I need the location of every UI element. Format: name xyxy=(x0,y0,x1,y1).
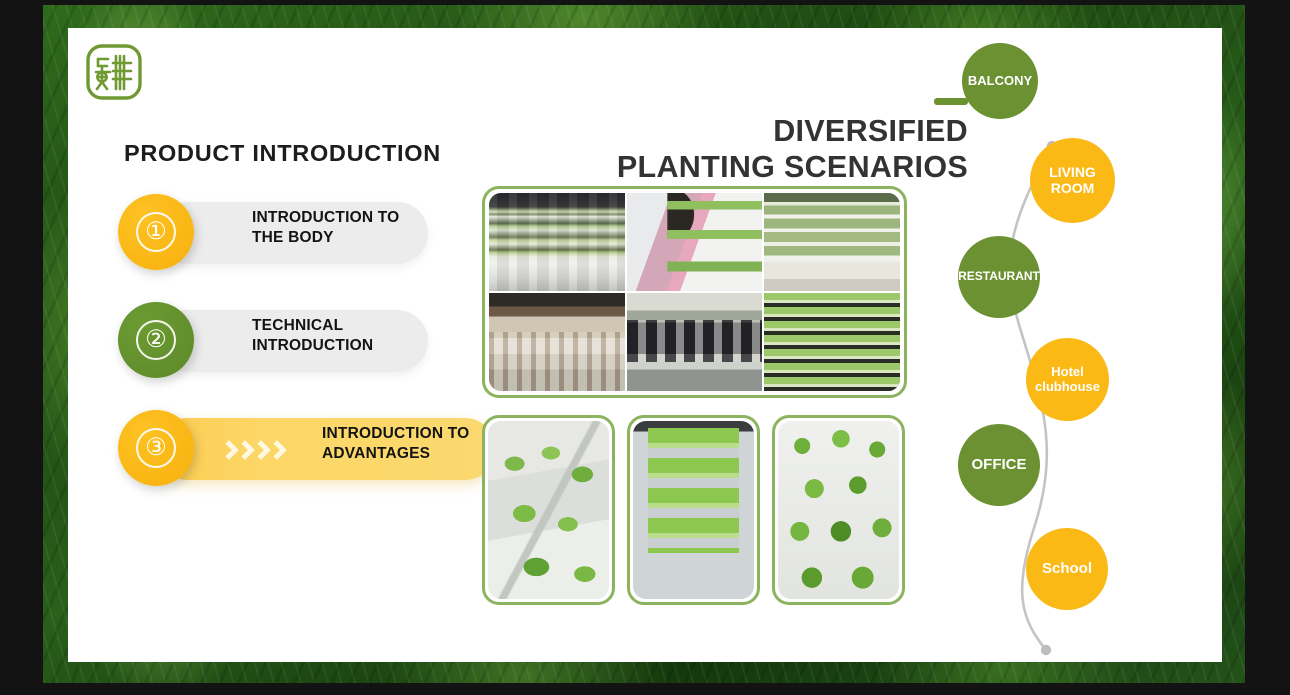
bottom-photo-row xyxy=(482,415,905,605)
collage-photo-indoor-grow-racks-dark-room xyxy=(489,193,625,291)
scenario-bubble-hotel-clubhouse[interactable]: Hotel clubhouse xyxy=(1026,338,1109,421)
scenario-bubble-living-room[interactable]: LIVING ROOM xyxy=(1030,138,1115,223)
scenario-bubble-school[interactable]: School xyxy=(1026,528,1108,610)
page-title: PRODUCT INTRODUCTION xyxy=(124,140,441,167)
scenario-label-hotel-clubhouse: Hotel clubhouse xyxy=(1026,365,1109,394)
collage-photo-restaurant-dining-hall xyxy=(489,293,625,391)
photo-collage[interactable] xyxy=(482,186,907,398)
main-heading-line-2: PLANTING SCENARIOS xyxy=(617,150,968,186)
scenario-label-living-room: LIVING ROOM xyxy=(1030,165,1115,196)
step-number-1: ① xyxy=(136,212,176,252)
step-label-2: TECHNICAL INTRODUCTION xyxy=(252,316,432,357)
photo-card-lettuce-heads-in-pots[interactable] xyxy=(772,415,905,605)
step-label-3: INTRODUCTION TO ADVANTAGES xyxy=(322,424,522,465)
step-label-1: INTRODUCTION TO THE BODY xyxy=(252,208,432,249)
scenario-bubble-office[interactable]: OFFICE xyxy=(958,424,1040,506)
main-heading-line-1: DIVERSIFIED xyxy=(617,114,968,150)
step-badge-2: ② xyxy=(118,302,194,378)
step-badge-3: ③ xyxy=(118,410,194,486)
scenario-bubble-restaurant[interactable]: RESTAURANT xyxy=(958,236,1040,318)
slide-card: PRODUCT INTRODUCTION ① INTRODUCTION TO T… xyxy=(68,28,1222,662)
step-number-2: ② xyxy=(136,320,176,360)
step-item-1[interactable]: ① INTRODUCTION TO THE BODY xyxy=(118,194,518,302)
main-heading: DIVERSIFIED PLANTING SCENARIOS xyxy=(617,114,968,186)
step-item-2[interactable]: ② TECHNICAL INTRODUCTION xyxy=(118,302,518,410)
step-number-3: ③ xyxy=(136,428,176,468)
brand-logo-icon xyxy=(86,44,142,100)
chevron-right-icons xyxy=(220,440,282,462)
accent-dash xyxy=(934,98,968,105)
photo-card-multi-tier-hydroponic-tower[interactable] xyxy=(627,415,760,605)
step-item-3[interactable]: ③ INTRODUCTION TO ADVANTAGES xyxy=(118,410,518,518)
scenario-bubble-balcony[interactable]: BALCONY xyxy=(962,43,1038,119)
collage-photo-grow-racks-warm-lighting xyxy=(764,193,900,291)
photo-multi-tier-hydroponic-tower xyxy=(633,421,754,599)
chevron-right-icon xyxy=(236,440,250,462)
collage-photo-classroom-workshop-students xyxy=(627,293,763,391)
collage-photo-girl-tending-vertical-garden xyxy=(627,193,763,291)
step-badge-1: ① xyxy=(118,194,194,270)
steps-list: ① INTRODUCTION TO THE BODY ② TECHNICAL I… xyxy=(118,194,518,518)
photo-lettuce-heads-in-pots xyxy=(778,421,899,599)
connector-endpoint-dot-bottom xyxy=(1041,645,1051,655)
photo-collage-grid xyxy=(489,193,900,391)
slide-stage: PRODUCT INTRODUCTION ① INTRODUCTION TO T… xyxy=(0,0,1290,695)
chevron-right-icon xyxy=(220,440,234,462)
chevron-right-icon xyxy=(252,440,266,462)
collage-photo-green-wall-of-lettuce xyxy=(764,293,900,391)
chevron-right-icon xyxy=(268,440,282,462)
